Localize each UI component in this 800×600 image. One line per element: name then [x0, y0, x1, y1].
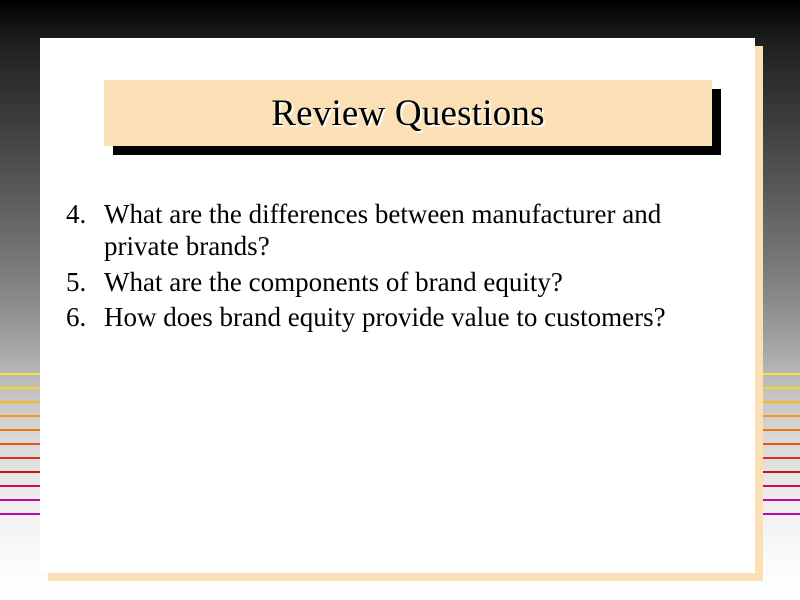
question-number: 5. [66, 266, 104, 298]
question-text: What are the components of brand equity? [104, 266, 738, 298]
review-question-list: 4.What are the differences between manuf… [66, 198, 738, 336]
slide: Review Questions 4.What are the differen… [0, 0, 800, 600]
question-text: What are the differences between manufac… [104, 198, 738, 263]
slide-content-card: Review Questions 4.What are the differen… [40, 38, 755, 573]
list-item: 5.What are the components of brand equit… [66, 266, 738, 298]
list-item: 4.What are the differences between manuf… [66, 198, 738, 263]
slide-title-band-fill: Review Questions [104, 80, 712, 146]
page-title: Review Questions [271, 95, 544, 132]
question-number: 6. [66, 301, 104, 333]
question-text: How does brand equity provide value to c… [104, 301, 738, 333]
slide-title-band: Review Questions [104, 80, 712, 146]
question-number: 4. [66, 198, 104, 230]
list-item: 6.How does brand equity provide value to… [66, 301, 738, 333]
